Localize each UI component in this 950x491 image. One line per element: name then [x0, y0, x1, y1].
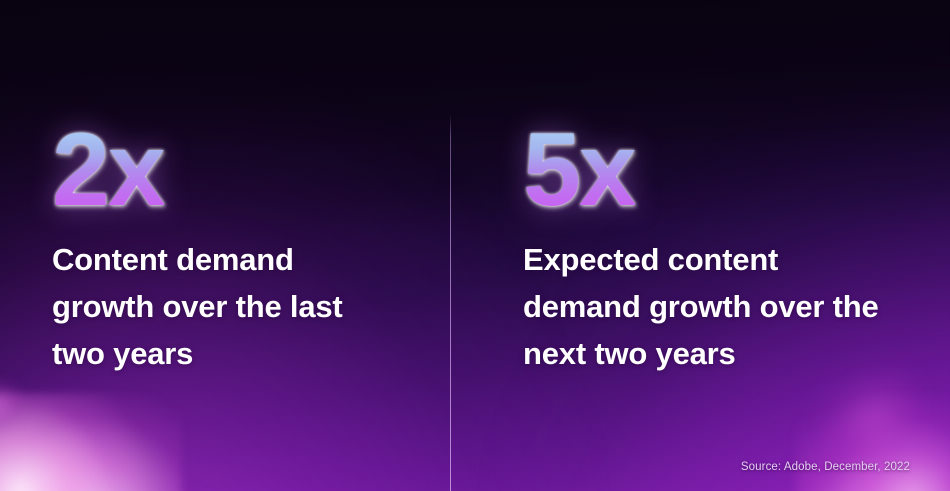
stat-slide: 2x Content demand growth over the last t…: [0, 0, 950, 491]
stat-block-right: 5x Expected content demand growth over t…: [523, 118, 903, 377]
stat-columns: 2x Content demand growth over the last t…: [0, 0, 950, 491]
stat-value-left: 2x: [52, 118, 164, 222]
stat-value-right: 5x: [523, 118, 635, 222]
source-attribution: Source: Adobe, December, 2022: [741, 461, 910, 473]
stat-caption-left: Content demand growth over the last two …: [52, 236, 402, 377]
stat-caption-right: Expected content demand growth over the …: [523, 236, 903, 377]
stat-block-left: 2x Content demand growth over the last t…: [52, 118, 402, 377]
